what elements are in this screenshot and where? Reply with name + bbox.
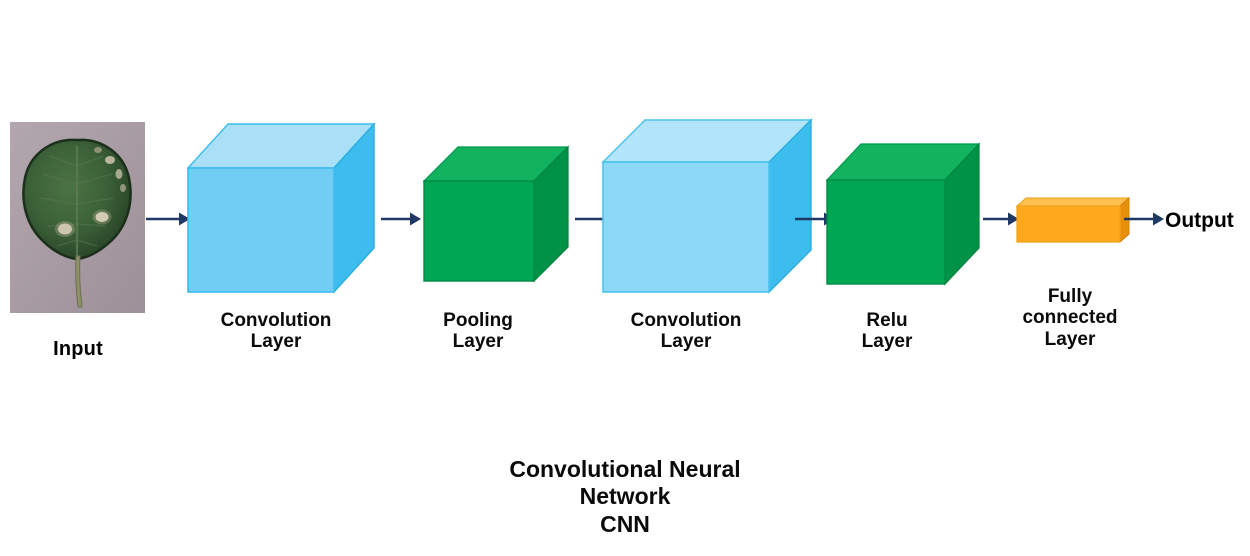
input-label: Input: [0, 338, 156, 361]
arrow-relu-to-fc: [983, 211, 1019, 227]
layer-label-fc: Fully connected Layer: [1000, 286, 1140, 350]
output-label: Output: [1165, 209, 1234, 233]
arrow-fc-to-output: [1124, 211, 1164, 227]
layer-block-relu: [827, 142, 979, 286]
layer-label-relu: Relu Layer: [822, 310, 952, 353]
layer-label-conv2: Convolution Layer: [600, 310, 772, 353]
input-leaf-image: [10, 122, 145, 313]
arrow-conv1-to-pool: [381, 211, 421, 227]
arrow-input-to-conv1: [146, 211, 190, 227]
diagram-caption: Convolutional Neural Network CNN: [340, 456, 910, 538]
layer-block-pool: [424, 145, 568, 283]
layer-block-conv2: [603, 118, 811, 294]
cnn-architecture-diagram: Input Convolution Layer P: [0, 0, 1250, 556]
layer-label-pool: Pooling Layer: [408, 310, 548, 353]
layer-label-conv1: Convolution Layer: [190, 310, 362, 353]
layer-block-conv1: [188, 122, 374, 294]
layer-block-fc: [1017, 196, 1129, 246]
